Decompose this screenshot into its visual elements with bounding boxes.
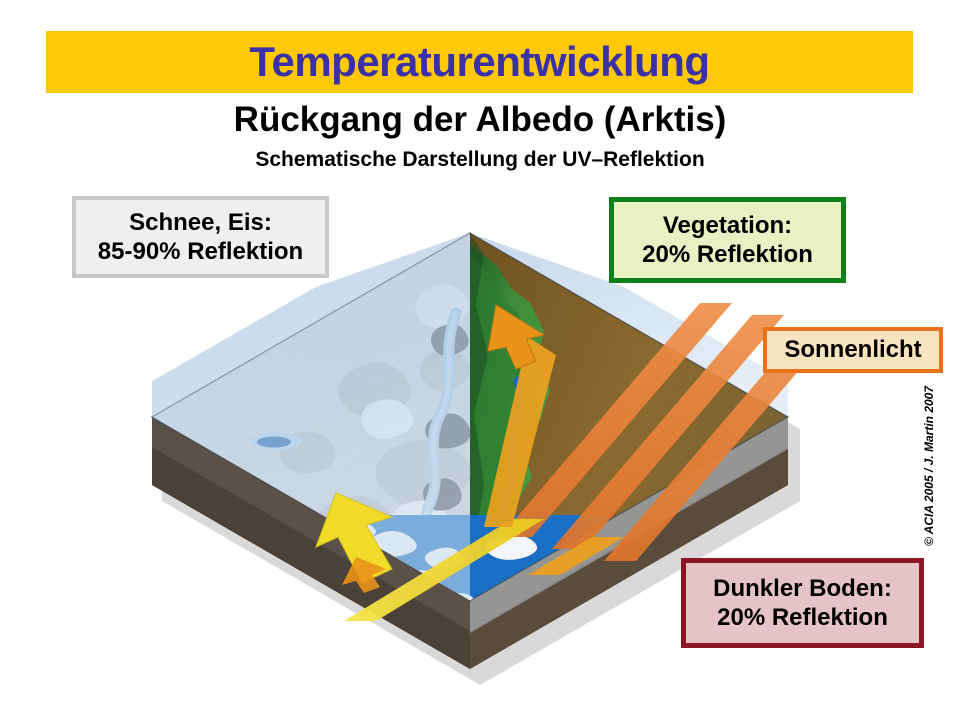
callout-vegetation[interactable]: Vegetation: 20% Reflektion <box>609 197 846 283</box>
callout-vegetation-line2: 20% Reflektion <box>642 240 813 269</box>
callout-snow-line2: 85-90% Reflektion <box>98 237 303 266</box>
page-title: Temperaturentwicklung <box>249 41 709 83</box>
callout-sunlight-line1: Sonnenlicht <box>784 335 921 364</box>
subtitle-primary: Rückgang der Albedo (Arktis) <box>0 100 960 140</box>
callout-dark-soil[interactable]: Dunkler Boden: 20% Reflektion <box>681 558 924 648</box>
slide-root: Temperaturentwicklung Rückgang der Albed… <box>0 0 960 720</box>
copyright-notice: © ACIA 2005 / J. Martin 2007 <box>922 346 936 546</box>
callout-vegetation-line1: Vegetation: <box>663 211 792 240</box>
subtitle-secondary: Schematische Darstellung der UV–Reflekti… <box>0 148 960 172</box>
callout-sunlight[interactable]: Sonnenlicht <box>763 327 943 373</box>
callout-snow-line1: Schnee, Eis: <box>129 208 272 237</box>
title-banner: Temperaturentwicklung <box>46 31 913 93</box>
callout-soil-line2: 20% Reflektion <box>717 603 888 632</box>
callout-snow-ice[interactable]: Schnee, Eis: 85-90% Reflektion <box>72 196 329 278</box>
callout-soil-line1: Dunkler Boden: <box>713 574 892 603</box>
